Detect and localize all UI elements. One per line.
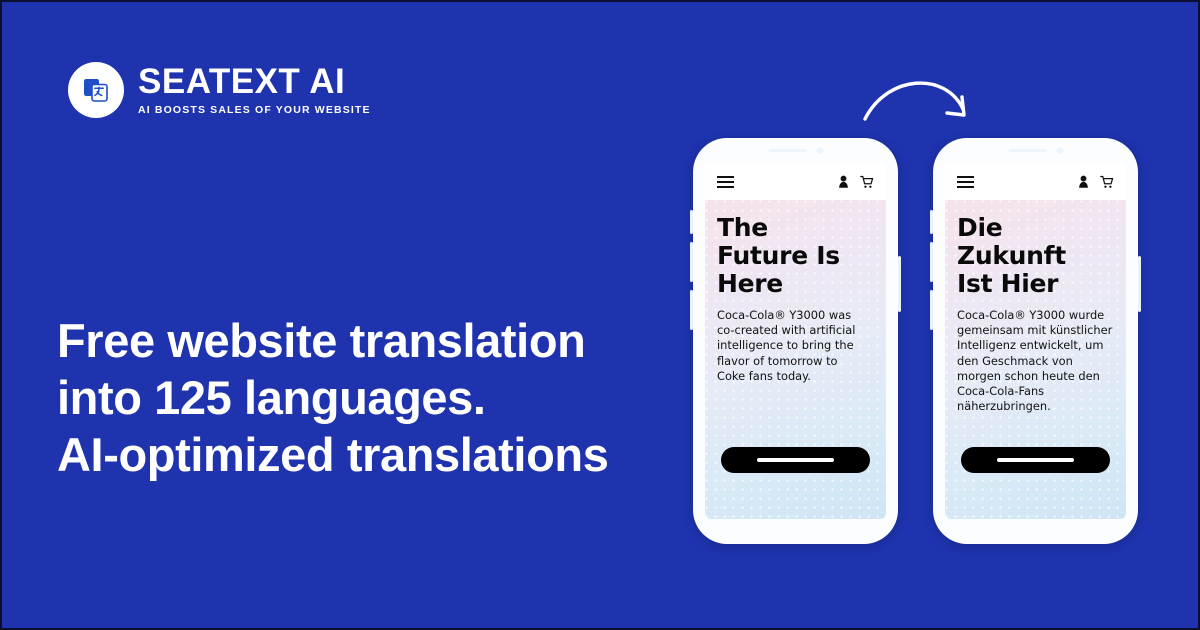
hero-title-line-3: Ist Hier xyxy=(957,270,1114,298)
cta-label-placeholder xyxy=(997,458,1074,462)
volume-up-button[interactable] xyxy=(690,242,693,282)
brand-name: SEATEXT AI xyxy=(138,64,371,99)
hero-body-line: co-created with artificial xyxy=(717,323,874,338)
hero-title: The Future Is Here xyxy=(717,214,874,298)
hamburger-menu-icon[interactable] xyxy=(717,176,734,188)
hero-body: Coca-Cola® Y3000 was co-created with art… xyxy=(717,308,874,384)
headline: Free website translation into 125 langua… xyxy=(57,312,697,483)
topbar-icons xyxy=(1077,175,1114,189)
shopping-cart-icon[interactable] xyxy=(1100,175,1114,189)
cta-button[interactable] xyxy=(961,447,1110,473)
topbar-icons xyxy=(837,175,874,189)
headline-line-2: into 125 languages. xyxy=(57,369,697,426)
earpiece-speaker xyxy=(768,149,806,152)
hero-body-line: morgen schon heute den xyxy=(957,369,1114,384)
user-account-icon[interactable] xyxy=(1077,175,1090,189)
site-topbar xyxy=(945,163,1126,200)
earpiece-speaker xyxy=(1008,149,1046,152)
hero-body-line: Coke fans today. xyxy=(717,369,874,384)
phone-screen: Die Zukunft Ist Hier Coca-Cola® Y3000 wu… xyxy=(945,163,1126,519)
power-button[interactable] xyxy=(1138,256,1141,312)
hero-body-line: näherzubringen. xyxy=(957,399,1114,414)
curved-arrow-icon xyxy=(857,57,997,137)
hamburger-menu-icon[interactable] xyxy=(957,176,974,188)
phone-notch xyxy=(768,147,823,154)
hero-body-line: gemeinsam mit künstlicher xyxy=(957,323,1114,338)
logo-badge xyxy=(68,62,124,118)
user-account-icon[interactable] xyxy=(837,175,850,189)
hero-title-line-3: Here xyxy=(717,270,874,298)
hero-body: Coca-Cola® Y3000 wurde gemeinsam mit kün… xyxy=(957,308,1114,414)
hero-title-line-1: The xyxy=(717,214,874,242)
translate-document-icon xyxy=(81,75,111,105)
hero-title: Die Zukunft Ist Hier xyxy=(957,214,1114,298)
hero-body-line: Intelligenz entwickelt, um xyxy=(957,338,1114,353)
promo-banner: SEATEXT AI AI BOOSTS SALES OF YOUR WEBSI… xyxy=(0,0,1200,630)
phone-translated-german: Die Zukunft Ist Hier Coca-Cola® Y3000 wu… xyxy=(933,138,1138,544)
page-content: Die Zukunft Ist Hier Coca-Cola® Y3000 wu… xyxy=(945,200,1126,519)
hero-body-line: flavor of tomorrow to xyxy=(717,354,874,369)
headline-line-1: Free website translation xyxy=(57,312,697,369)
front-camera xyxy=(1056,147,1063,154)
hero-body-line: Coca-Cola-Fans xyxy=(957,384,1114,399)
volume-down-button[interactable] xyxy=(930,290,933,330)
hero-body-line: Coca-Cola® Y3000 wurde xyxy=(957,308,1114,323)
power-button[interactable] xyxy=(898,256,901,312)
volume-up-button[interactable] xyxy=(930,242,933,282)
page-content: The Future Is Here Coca-Cola® Y3000 was … xyxy=(705,200,886,519)
brand-logo[interactable]: SEATEXT AI AI BOOSTS SALES OF YOUR WEBSI… xyxy=(68,62,371,118)
hero-body-line: intelligence to bring the xyxy=(717,338,874,353)
hero-title-line-2: Zukunft xyxy=(957,242,1114,270)
silent-switch[interactable] xyxy=(930,210,933,234)
hero-body-line: den Geschmack von xyxy=(957,354,1114,369)
phone-source-english: The Future Is Here Coca-Cola® Y3000 was … xyxy=(693,138,898,544)
hero-body-line: Coca-Cola® Y3000 was xyxy=(717,308,874,323)
headline-line-3: AI-optimized translations xyxy=(57,426,697,483)
silent-switch[interactable] xyxy=(690,210,693,234)
volume-down-button[interactable] xyxy=(690,290,693,330)
phone-notch xyxy=(1008,147,1063,154)
front-camera xyxy=(816,147,823,154)
phone-screen: The Future Is Here Coca-Cola® Y3000 was … xyxy=(705,163,886,519)
hero-title-line-1: Die xyxy=(957,214,1114,242)
hero-title-line-2: Future Is xyxy=(717,242,874,270)
cta-label-placeholder xyxy=(757,458,834,462)
brand-tagline: AI BOOSTS SALES OF YOUR WEBSITE xyxy=(138,105,371,116)
cta-button[interactable] xyxy=(721,447,870,473)
site-topbar xyxy=(705,163,886,200)
logo-text-block: SEATEXT AI AI BOOSTS SALES OF YOUR WEBSI… xyxy=(138,64,371,116)
shopping-cart-icon[interactable] xyxy=(860,175,874,189)
